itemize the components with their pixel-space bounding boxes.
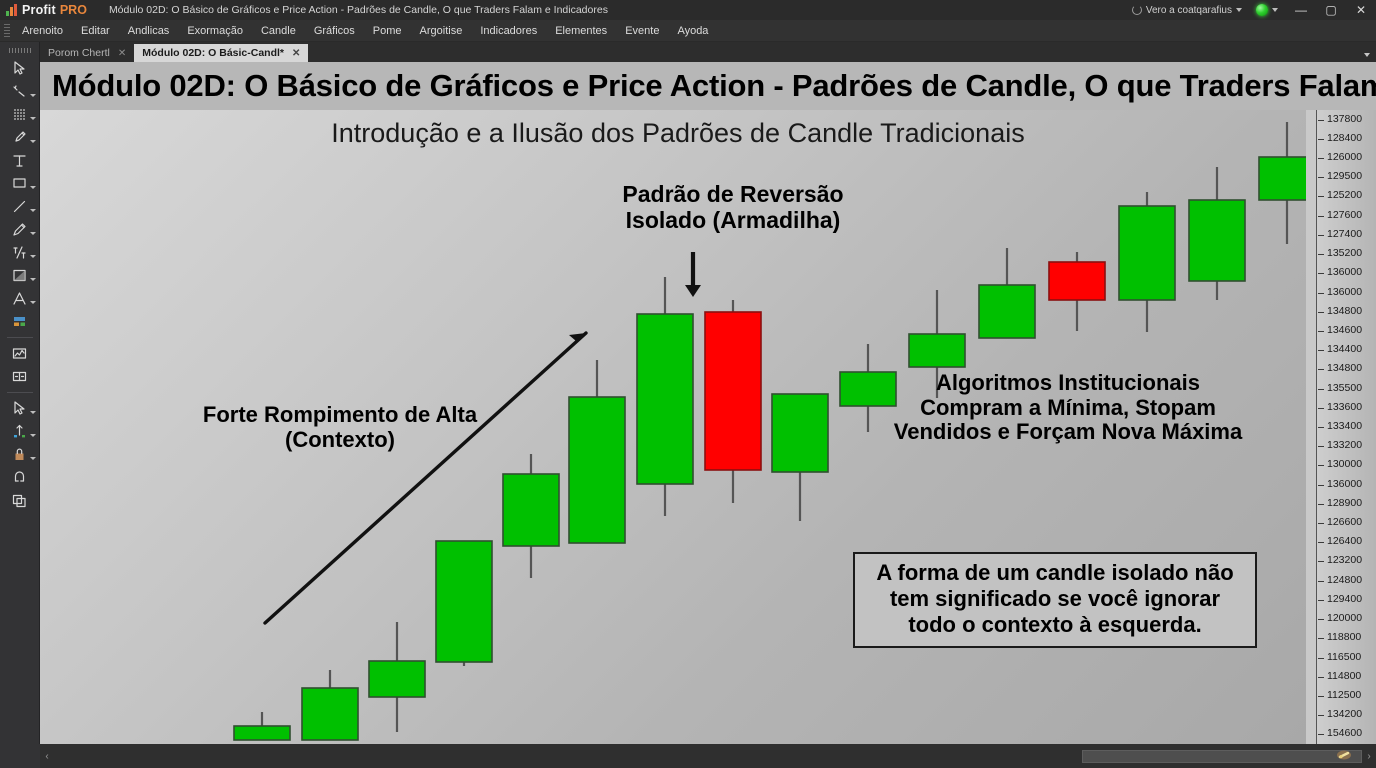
drawing-tool-rail — [0, 42, 40, 768]
tool-clone-copy-button[interactable] — [3, 489, 37, 512]
menu-item-editar[interactable]: Editar — [72, 22, 119, 40]
tool-lock-button[interactable] — [3, 443, 37, 466]
menu-item-andlicas[interactable]: Andlicas — [119, 22, 179, 40]
chevron-down-icon[interactable] — [30, 301, 36, 304]
scrollbar-track[interactable] — [54, 750, 1362, 763]
chart-tab-0[interactable]: Porom Chertl✕ — [40, 44, 134, 62]
axis-tick — [1318, 427, 1324, 428]
axis-tick — [1318, 677, 1324, 678]
grid-dots-icon — [11, 106, 28, 123]
annotation-algos-line2: Compram a Mínima, Stopam — [868, 396, 1268, 421]
title-bar: Profit PRO Módulo 02D: O Básico de Gráfi… — [0, 0, 1376, 20]
axis-price-label: 126600 — [1327, 516, 1362, 528]
candle-12 — [1049, 252, 1105, 331]
cursor-select-icon — [11, 60, 28, 77]
axis-price-label: 118800 — [1327, 631, 1361, 643]
axis-price-label: 133600 — [1327, 401, 1362, 413]
candle-6 — [637, 277, 693, 516]
axis-price-label: 124800 — [1327, 574, 1362, 586]
axis-tick — [1318, 350, 1324, 351]
toolrail-divider — [7, 337, 33, 338]
callout-line2: tem significado se você ignorar — [865, 586, 1245, 612]
candle-1 — [302, 670, 358, 740]
axis-price-label: 120000 — [1327, 612, 1362, 624]
chevron-down-icon[interactable] — [30, 94, 36, 97]
candle-3 — [436, 541, 492, 666]
axis-tick — [1318, 696, 1324, 697]
candle-13 — [1119, 192, 1175, 332]
tab-bar: Porom Chertl✕Módulo 02D: O Básic-Candl*✕ — [0, 42, 1376, 62]
price-axis[interactable]: 1378001284001260001295001252001276001274… — [1316, 110, 1376, 744]
axis-price-label: 133400 — [1327, 420, 1362, 432]
tool-cursor-select-button[interactable] — [3, 57, 37, 80]
tool-annotation-font-button[interactable] — [3, 287, 37, 310]
annotation-font-icon — [11, 290, 28, 307]
tool-text-tool-button[interactable] — [3, 149, 37, 172]
axis-price-label: 126400 — [1327, 535, 1362, 547]
tool-gann-fan-button[interactable] — [3, 264, 37, 287]
chevron-down-icon — [1272, 8, 1278, 12]
menu-item-exorma-o[interactable]: Exormação — [178, 22, 252, 40]
axis-tick — [1318, 600, 1324, 601]
candle-7 — [705, 300, 761, 503]
axis-price-label: 135500 — [1327, 382, 1362, 394]
magnet-snap-icon — [11, 469, 28, 486]
chevron-down-icon[interactable] — [30, 434, 36, 437]
scroll-left-arrow-icon[interactable]: ‹ — [40, 751, 54, 762]
clone-copy-icon — [11, 492, 28, 509]
menu-bar: ArenoitoEditarAndlicasExormaçãoCandleGrá… — [0, 20, 1376, 42]
axis-tick — [1318, 196, 1324, 197]
split-panel-icon — [11, 368, 28, 385]
axis-price-label: 128400 — [1327, 132, 1362, 144]
eyedropper-icon — [11, 129, 28, 146]
candle-11 — [979, 248, 1035, 338]
pencil-draw-icon — [11, 221, 28, 238]
callout-line1: A forma de um candle isolado não — [865, 560, 1245, 586]
chevron-down-icon — [1236, 8, 1242, 12]
tab-overflow-button[interactable] — [1364, 44, 1370, 62]
connection-status-orb — [1256, 4, 1268, 16]
axis-price-label: 129400 — [1327, 593, 1362, 605]
axis-price-label: 134200 — [1327, 708, 1362, 720]
axis-tick — [1318, 715, 1324, 716]
resize-handle-icon[interactable] — [1330, 742, 1358, 768]
axis-gutter — [1306, 110, 1316, 744]
chevron-down-icon[interactable] — [30, 209, 36, 212]
chevron-down-icon[interactable] — [30, 255, 36, 258]
axis-tick — [1318, 293, 1324, 294]
tool-scribble-line-button[interactable] — [3, 80, 37, 103]
axis-tick — [1318, 369, 1324, 370]
menu-drag-grip[interactable] — [4, 24, 10, 38]
axis-tick — [1318, 561, 1324, 562]
axis-tick — [1318, 389, 1324, 390]
account-label: Vero a coatqarafius — [1146, 5, 1232, 16]
axis-tick — [1318, 139, 1324, 140]
tool-pencil-draw-button[interactable] — [3, 218, 37, 241]
candle-14 — [1189, 167, 1245, 300]
axis-price-label: 134800 — [1327, 362, 1362, 374]
axis-price-label: 134400 — [1327, 343, 1362, 355]
profit-pro-window: Profit PRO Módulo 02D: O Básico de Gráfi… — [0, 0, 1376, 768]
menu-item-indicadores[interactable]: Indicadores — [471, 22, 546, 40]
axis-price-label: 112500 — [1327, 689, 1361, 701]
axis-price-label: 125200 — [1327, 189, 1362, 201]
axis-tick — [1318, 638, 1324, 639]
axis-price-label: 127600 — [1327, 209, 1362, 221]
candle-5 — [569, 360, 625, 543]
axis-tick — [1318, 408, 1324, 409]
tool-measure-tool-button[interactable] — [3, 420, 37, 443]
chevron-down-icon[interactable] — [30, 411, 36, 414]
toolrail-drag-grip[interactable] — [9, 48, 31, 53]
axis-price-label: 130000 — [1327, 458, 1362, 470]
candle-4 — [503, 454, 559, 578]
annotation-algos: Algoritmos Institucionais Compram a Míni… — [868, 371, 1268, 445]
candle-2 — [369, 622, 425, 732]
connection-status[interactable] — [1248, 4, 1286, 16]
tool-pointer-arrow-button[interactable] — [3, 397, 37, 420]
callout-line3: todo o contexto à esquerda. — [865, 612, 1245, 638]
axis-price-label: 154600 — [1327, 727, 1362, 739]
title-bar-right-group: Vero a coatqarafius — ▢ ✕ — [1126, 0, 1376, 20]
maximize-button[interactable]: ▢ — [1316, 0, 1346, 20]
account-selector[interactable]: Vero a coatqarafius — [1126, 5, 1248, 16]
axis-price-label: 134600 — [1327, 324, 1362, 336]
annotation-reversal: Padrão de Reversão Isolado (Armadilha) — [573, 182, 893, 234]
tool-magnet-snap-button[interactable] — [3, 466, 37, 489]
axis-tick — [1318, 331, 1324, 332]
axis-tick — [1318, 619, 1324, 620]
chart-tab-label: Porom Chertl — [48, 47, 110, 59]
menu-item-ayoda[interactable]: Ayoda — [668, 22, 717, 40]
axis-price-label: 116500 — [1327, 651, 1361, 663]
fibonacci-fraction-icon — [11, 244, 28, 261]
brand-edition: PRO — [60, 3, 87, 17]
chart-plot-area[interactable]: Introdução e a Ilusão dos Padrões de Can… — [40, 110, 1316, 744]
annotation-breakout: Forte Rompimento de Alta (Contexto) — [175, 403, 505, 452]
axis-price-label: 133200 — [1327, 439, 1362, 451]
axis-price-label: 136000 — [1327, 478, 1362, 490]
axis-tick — [1318, 734, 1324, 735]
gann-fan-icon — [11, 267, 28, 284]
close-button[interactable]: ✕ — [1346, 0, 1376, 20]
menu-item-pome[interactable]: Pome — [364, 22, 411, 40]
candle-0 — [234, 712, 290, 740]
axis-tick — [1318, 446, 1324, 447]
chart-title: Módulo 02D: O Básico de Gráficos e Price… — [40, 62, 1376, 110]
close-icon[interactable]: ✕ — [118, 48, 126, 59]
scribble-line-icon — [11, 83, 28, 100]
color-palette-icon — [11, 313, 28, 330]
axis-price-label: 128900 — [1327, 497, 1362, 509]
annotation-reversal-line2: Isolado (Armadilha) — [573, 208, 893, 234]
axis-tick — [1318, 542, 1324, 543]
callout-box: A forma de um candle isolado não tem sig… — [853, 552, 1257, 648]
pointer-arrow-icon — [11, 400, 28, 417]
chevron-down-icon — [1364, 53, 1370, 57]
menu-item-gr-ficos[interactable]: Gráficos — [305, 22, 364, 40]
axis-price-label: 137800 — [1327, 113, 1362, 125]
chevron-down-icon[interactable] — [30, 232, 36, 235]
profit-logo-icon — [6, 4, 17, 16]
axis-tick — [1318, 120, 1324, 121]
chevron-down-icon[interactable] — [30, 186, 36, 189]
tool-grid-dots-button[interactable] — [3, 103, 37, 126]
tool-eyedropper-button[interactable] — [3, 126, 37, 149]
candle-8 — [772, 394, 828, 521]
axis-price-label: 123200 — [1327, 554, 1362, 566]
axis-tick — [1318, 312, 1324, 313]
axis-price-label: 127400 — [1327, 228, 1362, 240]
menu-item-evente[interactable]: Evente — [616, 22, 668, 40]
annotation-breakout-line1: Forte Rompimento de Alta — [175, 403, 505, 428]
axis-tick — [1318, 581, 1324, 582]
tool-fibonacci-fraction-button[interactable] — [3, 241, 37, 264]
axis-price-label: 136000 — [1327, 286, 1362, 298]
line-tool-icon — [11, 198, 28, 215]
close-icon[interactable]: ✕ — [292, 48, 300, 59]
axis-tick — [1318, 504, 1324, 505]
axis-price-label: 134800 — [1327, 305, 1362, 317]
down-arrow-annotation — [685, 252, 701, 297]
toolrail-footer — [0, 744, 40, 768]
axis-price-label: 114800 — [1327, 670, 1361, 682]
axis-tick — [1318, 177, 1324, 178]
annotation-algos-line3: Vendidos e Forçam Nova Máxima — [868, 420, 1268, 445]
minimize-button[interactable]: — — [1286, 0, 1316, 20]
menu-item-argoitise[interactable]: Argoitise — [411, 22, 472, 40]
brand-name: Profit — [22, 3, 56, 17]
measure-tool-icon — [11, 423, 28, 440]
axis-price-label: 135200 — [1327, 247, 1362, 259]
tool-indicator-chart-button[interactable] — [3, 342, 37, 365]
horizontal-scrollbar[interactable]: ‹ › — [40, 744, 1376, 768]
scroll-right-arrow-icon[interactable]: › — [1362, 751, 1376, 762]
axis-tick — [1318, 254, 1324, 255]
axis-tick — [1318, 273, 1324, 274]
menu-item-arenoito[interactable]: Arenoito — [13, 22, 72, 40]
tool-rectangle-shape-button[interactable] — [3, 172, 37, 195]
chart-tab-label: Módulo 02D: O Básic-Candl* — [142, 47, 284, 59]
axis-tick — [1318, 465, 1324, 466]
menu-item-elementes[interactable]: Elementes — [546, 22, 616, 40]
chevron-down-icon[interactable] — [30, 140, 36, 143]
axis-price-label: 126000 — [1327, 151, 1362, 163]
annotation-reversal-line1: Padrão de Reversão — [573, 182, 893, 208]
chart-tab-1[interactable]: Módulo 02D: O Básic-Candl*✕ — [134, 44, 308, 62]
axis-tick — [1318, 523, 1324, 524]
lock-icon — [11, 446, 28, 463]
axis-tick — [1318, 158, 1324, 159]
axis-price-label: 136000 — [1327, 266, 1362, 278]
text-tool-icon — [11, 152, 28, 169]
scrollbar-thumb[interactable] — [1082, 750, 1362, 763]
annotation-breakout-line2: (Contexto) — [175, 428, 505, 453]
window-document-title: Módulo 02D: O Básico de Gráficos e Price… — [109, 4, 608, 16]
axis-tick — [1318, 485, 1324, 486]
toolrail-divider — [7, 392, 33, 393]
rectangle-shape-icon — [11, 175, 28, 192]
tool-line-tool-button[interactable] — [3, 195, 37, 218]
menu-item-candle[interactable]: Candle — [252, 22, 305, 40]
tool-color-palette-button[interactable] — [3, 310, 37, 333]
indicator-chart-icon — [11, 345, 28, 362]
chevron-down-icon[interactable] — [30, 457, 36, 460]
annotation-algos-line1: Algoritmos Institucionais — [868, 371, 1268, 396]
axis-tick — [1318, 216, 1324, 217]
axis-tick — [1318, 658, 1324, 659]
chevron-down-icon[interactable] — [30, 117, 36, 120]
axis-tick — [1318, 235, 1324, 236]
tool-split-panel-button[interactable] — [3, 365, 37, 388]
axis-price-label: 129500 — [1327, 170, 1362, 182]
chevron-down-icon[interactable] — [30, 278, 36, 281]
refresh-icon — [1132, 5, 1142, 15]
